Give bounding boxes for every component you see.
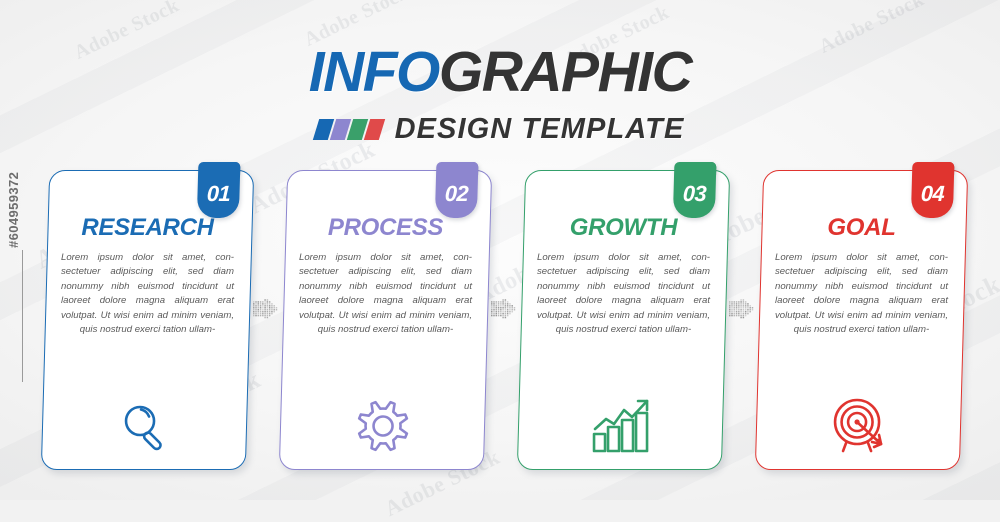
- card-slot-research: 01 RESEARCH Lorem ipsum dolor sit amet, …: [45, 170, 250, 470]
- magnifier-icon: [42, 398, 247, 454]
- bar-chart-growth-icon: [518, 398, 723, 454]
- color-bars: [316, 119, 382, 140]
- target-arrow-icon: [756, 396, 961, 454]
- infographic-canvas: Adobe StockAdobe StockAdobe StockAdobe S…: [0, 0, 1000, 500]
- step-number-ribbon: 02: [435, 162, 479, 218]
- ribbon-body: 02: [435, 162, 479, 218]
- page-subtitle: DESIGN TEMPLATE: [395, 113, 685, 146]
- dotted-arrow-right-icon: [491, 298, 517, 320]
- step-card[interactable]: 04 GOAL Lorem ipsum dolor sit amet, con-…: [755, 170, 968, 470]
- card-title: GOAL: [773, 214, 950, 242]
- card-description: Lorem ipsum dolor sit amet, con-sectetue…: [61, 251, 234, 337]
- title-part-info: INFO: [309, 40, 439, 104]
- step-number-ribbon: 04: [911, 162, 955, 218]
- card-description: Lorem ipsum dolor sit amet, con-sectetue…: [299, 251, 472, 337]
- dotted-arrow-right-icon: [253, 298, 279, 320]
- ribbon-body: 04: [911, 162, 955, 218]
- card-slot-goal: 04 GOAL Lorem ipsum dolor sit amet, con-…: [759, 170, 964, 470]
- ribbon-body: 03: [673, 162, 717, 218]
- card-title: GROWTH: [535, 214, 712, 242]
- card-row: 01 RESEARCH Lorem ipsum dolor sit amet, …: [0, 170, 1000, 480]
- page-title: INFOGRAPHIC: [0, 44, 1000, 101]
- card-slot-process: 02 PROCESS Lorem ipsum dolor sit amet, c…: [283, 170, 488, 470]
- card-title: PROCESS: [297, 214, 474, 242]
- step-card[interactable]: 03 GROWTH Lorem ipsum dolor sit amet, co…: [517, 170, 730, 470]
- step-number: 03: [682, 183, 706, 218]
- step-card[interactable]: 01 RESEARCH Lorem ipsum dolor sit amet, …: [41, 170, 254, 470]
- header: INFOGRAPHIC DESIGN TEMPLATE: [0, 44, 1000, 146]
- step-number: 02: [444, 183, 468, 218]
- step-number: 01: [206, 183, 230, 218]
- dotted-arrow-right-icon: [729, 298, 755, 320]
- card-title: RESEARCH: [59, 214, 236, 242]
- card-description: Lorem ipsum dolor sit amet, con-sectetue…: [537, 251, 710, 337]
- step-number-ribbon: 03: [673, 162, 717, 218]
- step-number-ribbon: 01: [197, 162, 241, 218]
- step-card[interactable]: 02 PROCESS Lorem ipsum dolor sit amet, c…: [279, 170, 492, 470]
- card-slot-growth: 03 GROWTH Lorem ipsum dolor sit amet, co…: [521, 170, 726, 470]
- gear-icon: [280, 398, 485, 454]
- ribbon-body: 01: [197, 162, 241, 218]
- step-number: 04: [920, 183, 944, 218]
- subtitle-row: DESIGN TEMPLATE: [0, 113, 1000, 146]
- card-description: Lorem ipsum dolor sit amet, con-sectetue…: [775, 251, 948, 337]
- title-part-graphic: GRAPHIC: [439, 40, 691, 104]
